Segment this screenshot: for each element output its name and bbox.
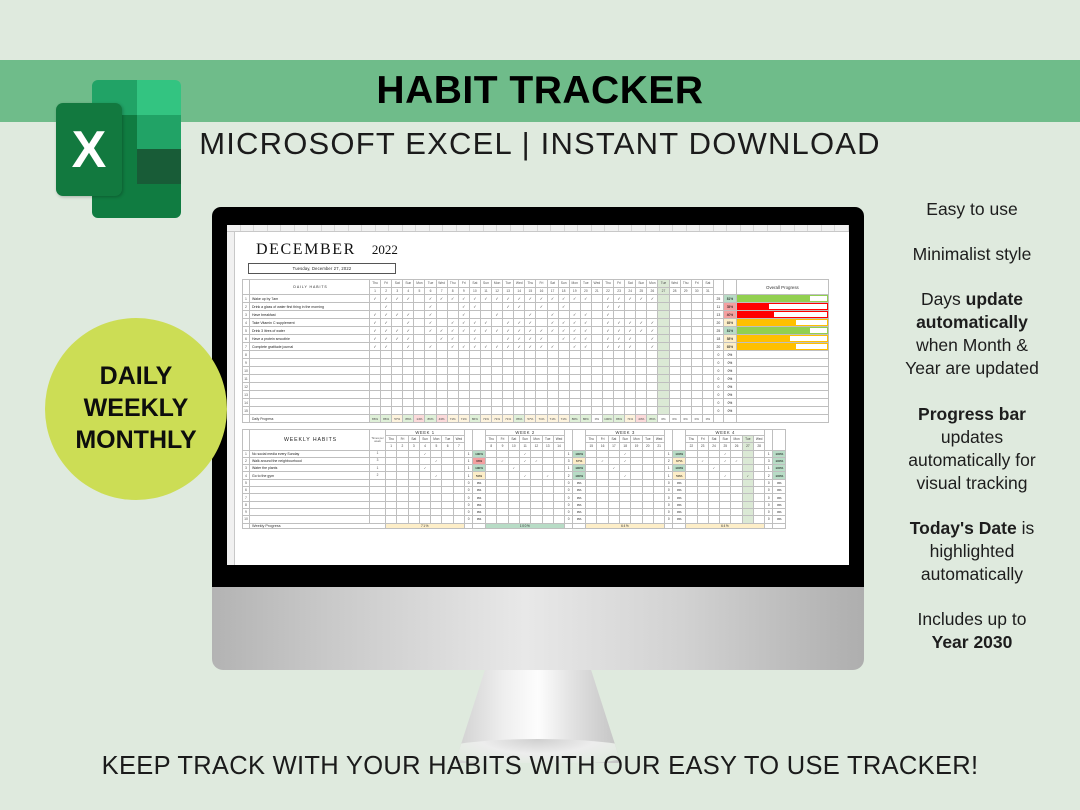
column-letter[interactable] (822, 225, 836, 231)
habit-check-cell[interactable] (620, 487, 631, 494)
table-row[interactable]: 900% (243, 359, 829, 367)
habit-check-cell[interactable] (636, 343, 647, 351)
column-letter[interactable] (524, 225, 538, 231)
habit-check-cell[interactable] (503, 391, 514, 399)
column-letter[interactable] (700, 225, 714, 231)
habit-check-cell[interactable] (625, 359, 636, 367)
habit-check-cell[interactable] (580, 367, 591, 375)
table-row[interactable]: 1100% (243, 375, 829, 383)
column-letter[interactable] (416, 225, 430, 231)
habit-name-cell[interactable]: Walk around the neighbourhood (250, 457, 370, 464)
habit-check-cell[interactable] (642, 450, 653, 457)
habit-check-cell[interactable] (403, 399, 414, 407)
habit-check-cell[interactable] (392, 391, 403, 399)
habit-check-cell[interactable]: ✓ (381, 319, 392, 327)
habit-check-cell[interactable] (720, 508, 731, 515)
habit-check-cell[interactable]: ✓ (614, 295, 625, 303)
habit-check-cell[interactable] (392, 319, 403, 327)
habit-check-cell[interactable] (492, 391, 503, 399)
habit-check-cell[interactable] (469, 351, 480, 359)
habit-check-cell[interactable] (447, 391, 458, 399)
habit-check-cell[interactable] (453, 494, 464, 501)
habit-check-cell[interactable] (547, 375, 558, 383)
habit-check-cell[interactable]: ✓ (647, 335, 658, 343)
column-letter[interactable] (335, 225, 349, 231)
habit-check-cell[interactable] (414, 319, 425, 327)
habit-check-cell[interactable] (492, 383, 503, 391)
habit-check-cell[interactable] (625, 375, 636, 383)
habit-check-cell[interactable] (658, 367, 669, 375)
habit-check-cell[interactable] (480, 335, 491, 343)
habit-check-cell[interactable] (436, 391, 447, 399)
habit-check-cell[interactable] (514, 383, 525, 391)
habit-check-cell[interactable] (403, 407, 414, 415)
habit-name-cell[interactable]: No social media every Sunday (250, 450, 370, 457)
habit-check-cell[interactable] (542, 516, 553, 523)
row-header-strip[interactable] (227, 232, 235, 565)
habit-check-cell[interactable]: ✓ (447, 343, 458, 351)
habit-check-cell[interactable] (697, 508, 708, 515)
habit-check-cell[interactable] (525, 367, 536, 375)
habit-check-cell[interactable] (686, 516, 697, 523)
habit-check-cell[interactable]: ✓ (381, 343, 392, 351)
habit-check-cell[interactable] (647, 351, 658, 359)
habit-check-cell[interactable]: ✓ (514, 295, 525, 303)
habit-check-cell[interactable] (514, 391, 525, 399)
habit-check-cell[interactable] (647, 375, 658, 383)
habit-check-cell[interactable] (669, 295, 680, 303)
habit-check-cell[interactable] (447, 375, 458, 383)
habit-check-cell[interactable] (569, 399, 580, 407)
habit-check-cell[interactable] (392, 407, 403, 415)
habit-check-cell[interactable] (458, 367, 469, 375)
habit-check-cell[interactable] (414, 359, 425, 367)
habit-check-cell[interactable] (558, 375, 569, 383)
habit-name-cell[interactable]: Have breakfast (250, 311, 370, 319)
habit-check-cell[interactable] (525, 391, 536, 399)
habit-check-cell[interactable] (503, 359, 514, 367)
habit-check-cell[interactable]: ✓ (525, 319, 536, 327)
habit-check-cell[interactable] (680, 319, 691, 327)
habit-frequency-cell[interactable] (370, 508, 386, 515)
habit-check-cell[interactable] (503, 311, 514, 319)
habit-check-cell[interactable] (642, 508, 653, 515)
column-letter[interactable] (281, 225, 295, 231)
habit-check-cell[interactable] (469, 399, 480, 407)
habit-check-cell[interactable]: ✓ (403, 327, 414, 335)
habit-check-cell[interactable] (553, 487, 564, 494)
habit-check-cell[interactable] (531, 501, 542, 508)
habit-check-cell[interactable]: ✓ (458, 311, 469, 319)
habit-check-cell[interactable]: ✓ (647, 295, 658, 303)
habit-check-cell[interactable] (731, 472, 742, 479)
habit-check-cell[interactable] (414, 383, 425, 391)
habit-check-cell[interactable] (436, 383, 447, 391)
habit-check-cell[interactable] (658, 295, 669, 303)
habit-check-cell[interactable] (414, 343, 425, 351)
habit-check-cell[interactable]: ✓ (447, 319, 458, 327)
habit-check-cell[interactable] (453, 472, 464, 479)
habit-check-cell[interactable]: ✓ (525, 311, 536, 319)
column-letter[interactable] (430, 225, 444, 231)
habit-check-cell[interactable] (625, 391, 636, 399)
habit-check-cell[interactable] (691, 391, 702, 399)
habit-check-cell[interactable] (392, 351, 403, 359)
habit-check-cell[interactable]: ✓ (536, 335, 547, 343)
habit-check-cell[interactable] (436, 319, 447, 327)
habit-check-cell[interactable] (586, 501, 597, 508)
habit-check-cell[interactable] (431, 487, 442, 494)
habit-check-cell[interactable] (631, 457, 642, 464)
table-row[interactable]: 4Take Vitamin C supplement✓✓✓✓✓✓✓✓✓✓✓✓✓✓… (243, 319, 829, 327)
habit-check-cell[interactable] (708, 472, 719, 479)
habit-check-cell[interactable] (602, 399, 613, 407)
habit-check-cell[interactable] (519, 465, 530, 472)
column-letter[interactable] (470, 225, 484, 231)
habit-check-cell[interactable] (580, 351, 591, 359)
habit-check-cell[interactable]: ✓ (492, 311, 503, 319)
habit-check-cell[interactable] (469, 407, 480, 415)
habit-check-cell[interactable] (547, 399, 558, 407)
habit-check-cell[interactable]: ✓ (620, 472, 631, 479)
habit-check-cell[interactable] (480, 383, 491, 391)
habit-check-cell[interactable] (658, 343, 669, 351)
habit-check-cell[interactable]: ✓ (558, 295, 569, 303)
habit-check-cell[interactable] (669, 311, 680, 319)
column-letter[interactable] (551, 225, 565, 231)
habit-check-cell[interactable] (647, 359, 658, 367)
habit-check-cell[interactable]: ✓ (392, 295, 403, 303)
habit-check-cell[interactable] (419, 494, 430, 501)
habit-check-cell[interactable] (614, 407, 625, 415)
habit-check-cell[interactable] (531, 494, 542, 501)
habit-check-cell[interactable]: ✓ (480, 343, 491, 351)
habit-check-cell[interactable] (453, 487, 464, 494)
habit-check-cell[interactable] (691, 383, 702, 391)
habit-check-cell[interactable] (370, 367, 381, 375)
habit-check-cell[interactable] (580, 359, 591, 367)
habit-check-cell[interactable] (658, 327, 669, 335)
habit-check-cell[interactable] (580, 375, 591, 383)
table-row[interactable]: 800% (243, 351, 829, 359)
habit-check-cell[interactable] (486, 516, 497, 523)
habit-check-cell[interactable] (519, 479, 530, 486)
habit-check-cell[interactable] (514, 311, 525, 319)
habit-check-cell[interactable] (580, 407, 591, 415)
habit-check-cell[interactable] (680, 295, 691, 303)
habit-check-cell[interactable] (447, 367, 458, 375)
habit-check-cell[interactable] (702, 335, 713, 343)
habit-check-cell[interactable] (425, 383, 436, 391)
habit-check-cell[interactable] (580, 399, 591, 407)
habit-check-cell[interactable] (414, 295, 425, 303)
habit-check-cell[interactable] (754, 516, 765, 523)
habit-check-cell[interactable] (691, 351, 702, 359)
habit-check-cell[interactable] (669, 303, 680, 311)
habit-check-cell[interactable] (408, 450, 419, 457)
habit-check-cell[interactable] (614, 399, 625, 407)
habit-check-cell[interactable] (631, 516, 642, 523)
habit-check-cell[interactable] (386, 487, 397, 494)
habit-check-cell[interactable] (436, 343, 447, 351)
habit-check-cell[interactable] (386, 516, 397, 523)
habit-check-cell[interactable]: ✓ (636, 327, 647, 335)
habit-check-cell[interactable] (642, 501, 653, 508)
habit-check-cell[interactable]: ✓ (547, 311, 558, 319)
habit-check-cell[interactable] (697, 487, 708, 494)
habit-check-cell[interactable] (731, 487, 742, 494)
habit-check-cell[interactable] (531, 450, 542, 457)
table-row[interactable]: 1000%00%00%00% (243, 516, 786, 523)
habit-check-cell[interactable] (669, 319, 680, 327)
habit-check-cell[interactable] (642, 472, 653, 479)
habit-check-cell[interactable]: ✓ (519, 472, 530, 479)
habit-check-cell[interactable]: ✓ (370, 335, 381, 343)
habit-check-cell[interactable] (397, 501, 408, 508)
habit-check-cell[interactable] (419, 457, 430, 464)
habit-check-cell[interactable]: ✓ (480, 327, 491, 335)
habit-check-cell[interactable] (480, 375, 491, 383)
column-letter[interactable] (835, 225, 849, 231)
habit-check-cell[interactable] (731, 450, 742, 457)
habit-check-cell[interactable] (442, 472, 453, 479)
habit-check-cell[interactable] (669, 391, 680, 399)
column-letter[interactable] (403, 225, 417, 231)
habit-check-cell[interactable] (702, 375, 713, 383)
habit-check-cell[interactable] (514, 407, 525, 415)
habit-check-cell[interactable] (536, 367, 547, 375)
habit-check-cell[interactable] (370, 399, 381, 407)
habit-check-cell[interactable] (403, 367, 414, 375)
habit-check-cell[interactable] (591, 303, 602, 311)
habit-check-cell[interactable] (691, 399, 702, 407)
habit-check-cell[interactable] (642, 479, 653, 486)
habit-check-cell[interactable]: ✓ (525, 295, 536, 303)
habit-check-cell[interactable] (397, 479, 408, 486)
column-letter[interactable] (268, 225, 282, 231)
habit-check-cell[interactable] (708, 450, 719, 457)
habit-check-cell[interactable] (442, 487, 453, 494)
habit-check-cell[interactable] (458, 335, 469, 343)
habit-check-cell[interactable]: ✓ (419, 450, 430, 457)
habit-check-cell[interactable] (686, 450, 697, 457)
habit-check-cell[interactable]: ✓ (625, 319, 636, 327)
habit-check-cell[interactable] (731, 479, 742, 486)
habit-check-cell[interactable] (636, 311, 647, 319)
column-letter[interactable] (389, 225, 403, 231)
habit-check-cell[interactable] (742, 501, 753, 508)
habit-check-cell[interactable] (480, 359, 491, 367)
habit-check-cell[interactable] (492, 367, 503, 375)
habit-check-cell[interactable] (458, 359, 469, 367)
habit-check-cell[interactable]: ✓ (602, 311, 613, 319)
table-row[interactable]: 4Go to the gym2✓150%✓✓2100%✓150%✓✓2100% (243, 472, 786, 479)
habit-check-cell[interactable] (636, 303, 647, 311)
habit-check-cell[interactable] (442, 465, 453, 472)
habit-check-cell[interactable]: ✓ (597, 457, 608, 464)
habit-name-cell[interactable] (250, 383, 370, 391)
habit-check-cell[interactable] (631, 487, 642, 494)
habit-check-cell[interactable] (469, 383, 480, 391)
habit-check-cell[interactable]: ✓ (625, 335, 636, 343)
habit-check-cell[interactable] (720, 479, 731, 486)
habit-check-cell[interactable]: ✓ (614, 303, 625, 311)
habit-check-cell[interactable] (414, 303, 425, 311)
habit-check-cell[interactable] (680, 391, 691, 399)
habit-check-cell[interactable] (708, 457, 719, 464)
habit-name-cell[interactable] (250, 407, 370, 415)
habit-check-cell[interactable] (742, 487, 753, 494)
habit-check-cell[interactable] (597, 501, 608, 508)
habit-check-cell[interactable] (486, 479, 497, 486)
habit-check-cell[interactable] (553, 450, 564, 457)
habit-check-cell[interactable] (653, 472, 664, 479)
habit-check-cell[interactable] (754, 472, 765, 479)
table-row[interactable]: 600%00%00%00% (243, 487, 786, 494)
habit-check-cell[interactable] (691, 335, 702, 343)
habit-check-cell[interactable] (447, 311, 458, 319)
habit-check-cell[interactable] (403, 383, 414, 391)
habit-check-cell[interactable] (547, 335, 558, 343)
habit-check-cell[interactable]: ✓ (392, 327, 403, 335)
table-row[interactable]: 800%00%00%00% (243, 501, 786, 508)
habit-check-cell[interactable] (525, 303, 536, 311)
habit-check-cell[interactable]: ✓ (381, 303, 392, 311)
habit-check-cell[interactable] (658, 383, 669, 391)
habit-check-cell[interactable] (486, 494, 497, 501)
habit-check-cell[interactable]: ✓ (425, 343, 436, 351)
habit-check-cell[interactable] (608, 501, 619, 508)
habit-check-cell[interactable] (447, 399, 458, 407)
habit-check-cell[interactable] (597, 516, 608, 523)
habit-check-cell[interactable] (547, 367, 558, 375)
habit-check-cell[interactable] (586, 487, 597, 494)
habit-check-cell[interactable] (408, 508, 419, 515)
habit-check-cell[interactable] (431, 465, 442, 472)
table-row[interactable]: 1200% (243, 383, 829, 391)
habit-check-cell[interactable] (408, 472, 419, 479)
habit-check-cell[interactable]: ✓ (614, 327, 625, 335)
habit-check-cell[interactable] (547, 383, 558, 391)
habit-check-cell[interactable] (392, 367, 403, 375)
habit-check-cell[interactable] (558, 359, 569, 367)
habit-check-cell[interactable] (754, 479, 765, 486)
habit-check-cell[interactable] (425, 335, 436, 343)
habit-check-cell[interactable] (631, 472, 642, 479)
habit-check-cell[interactable] (397, 457, 408, 464)
habit-check-cell[interactable] (542, 494, 553, 501)
habit-check-cell[interactable] (508, 450, 519, 457)
habit-check-cell[interactable] (569, 351, 580, 359)
habit-check-cell[interactable]: ✓ (469, 343, 480, 351)
habit-check-cell[interactable] (558, 351, 569, 359)
habit-check-cell[interactable]: ✓ (602, 335, 613, 343)
habit-check-cell[interactable] (591, 399, 602, 407)
column-letter[interactable] (592, 225, 606, 231)
habit-check-cell[interactable] (497, 501, 508, 508)
habit-check-cell[interactable] (458, 391, 469, 399)
column-letter[interactable] (349, 225, 363, 231)
habit-check-cell[interactable] (508, 479, 519, 486)
habit-check-cell[interactable] (653, 487, 664, 494)
habit-check-cell[interactable]: ✓ (558, 303, 569, 311)
habit-check-cell[interactable]: ✓ (381, 311, 392, 319)
habit-check-cell[interactable] (702, 399, 713, 407)
habit-check-cell[interactable] (754, 450, 765, 457)
habit-check-cell[interactable] (602, 375, 613, 383)
habit-check-cell[interactable] (542, 450, 553, 457)
habit-check-cell[interactable] (414, 367, 425, 375)
habit-check-cell[interactable]: ✓ (625, 327, 636, 335)
habit-check-cell[interactable]: ✓ (602, 303, 613, 311)
habit-check-cell[interactable] (514, 399, 525, 407)
habit-check-cell[interactable] (680, 367, 691, 375)
habit-check-cell[interactable] (591, 383, 602, 391)
habit-check-cell[interactable] (625, 367, 636, 375)
habit-check-cell[interactable] (697, 465, 708, 472)
habit-check-cell[interactable] (558, 383, 569, 391)
habit-check-cell[interactable] (525, 383, 536, 391)
habit-check-cell[interactable] (597, 472, 608, 479)
habit-check-cell[interactable] (586, 457, 597, 464)
habit-check-cell[interactable] (647, 391, 658, 399)
habit-check-cell[interactable]: ✓ (580, 311, 591, 319)
habit-check-cell[interactable] (508, 487, 519, 494)
habit-check-cell[interactable]: ✓ (403, 311, 414, 319)
habit-check-cell[interactable] (636, 375, 647, 383)
habit-name-cell[interactable] (250, 501, 370, 508)
habit-check-cell[interactable] (503, 351, 514, 359)
habit-check-cell[interactable] (431, 450, 442, 457)
habit-check-cell[interactable] (642, 487, 653, 494)
habit-check-cell[interactable] (447, 383, 458, 391)
habit-check-cell[interactable] (558, 407, 569, 415)
column-letter[interactable] (687, 225, 701, 231)
habit-check-cell[interactable] (547, 351, 558, 359)
habit-name-cell[interactable]: Have a protein smoothie (250, 335, 370, 343)
habit-check-cell[interactable] (608, 487, 619, 494)
table-row[interactable]: 3Have breakfast✓✓✓✓✓✓✓✓✓✓✓✓1340% (243, 311, 829, 319)
habit-check-cell[interactable]: ✓ (370, 311, 381, 319)
habit-check-cell[interactable] (586, 479, 597, 486)
habit-check-cell[interactable]: ✓ (620, 450, 631, 457)
habit-check-cell[interactable] (508, 457, 519, 464)
habit-check-cell[interactable]: ✓ (547, 295, 558, 303)
habit-check-cell[interactable]: ✓ (614, 335, 625, 343)
habit-check-cell[interactable]: ✓ (469, 319, 480, 327)
habit-check-cell[interactable] (403, 359, 414, 367)
habit-check-cell[interactable] (431, 501, 442, 508)
habit-check-cell[interactable] (614, 351, 625, 359)
habit-check-cell[interactable] (370, 359, 381, 367)
habit-check-cell[interactable] (614, 359, 625, 367)
habit-check-cell[interactable] (620, 465, 631, 472)
habit-check-cell[interactable] (591, 295, 602, 303)
habit-check-cell[interactable] (602, 351, 613, 359)
habit-check-cell[interactable]: ✓ (602, 295, 613, 303)
column-header-row[interactable] (227, 225, 849, 232)
habit-check-cell[interactable] (536, 311, 547, 319)
habit-check-cell[interactable] (669, 367, 680, 375)
table-row[interactable]: 1No social media every Sunday1✓1100%✓110… (243, 450, 786, 457)
habit-check-cell[interactable] (614, 375, 625, 383)
habit-check-cell[interactable] (754, 457, 765, 464)
habit-check-cell[interactable] (497, 508, 508, 515)
habit-check-cell[interactable] (531, 479, 542, 486)
table-row[interactable]: 7Complete gratitude journal✓✓✓✓✓✓✓✓✓✓✓✓✓… (243, 343, 829, 351)
habit-check-cell[interactable] (702, 343, 713, 351)
habit-check-cell[interactable] (397, 494, 408, 501)
